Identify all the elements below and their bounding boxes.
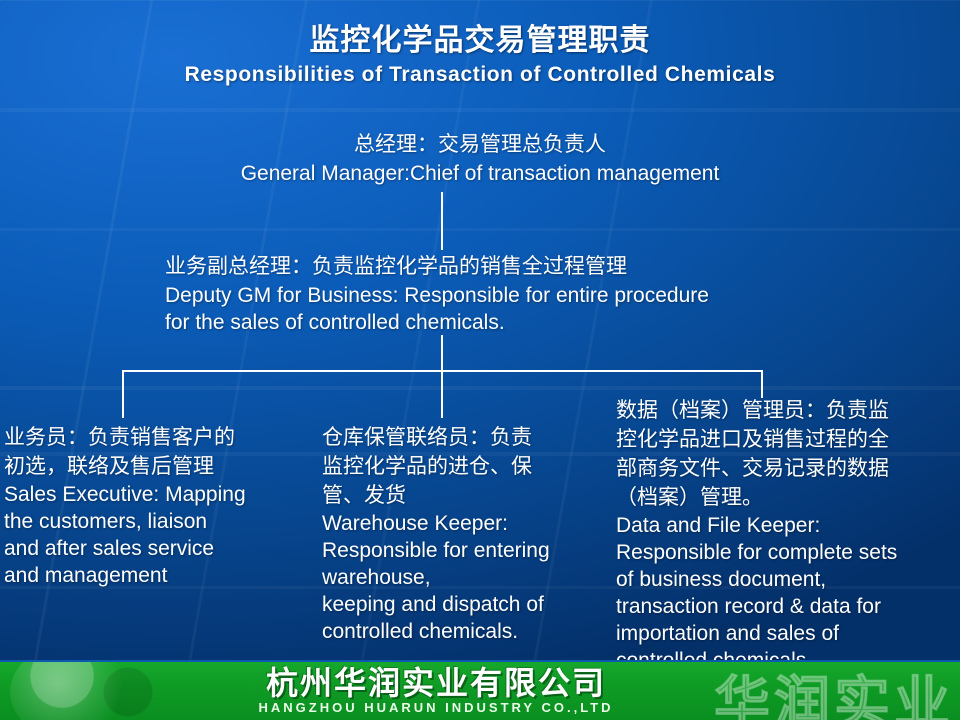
company-name-english: HANGZHOU HUARUN INDUSTRY CO.,LTD	[196, 700, 676, 716]
connector-deputy-stub	[441, 335, 443, 372]
slide-title: 监控化学品交易管理职责 Responsibilities of Transact…	[0, 22, 960, 90]
slide-canvas: 监控化学品交易管理职责 Responsibilities of Transact…	[0, 0, 960, 720]
node-label-chinese: 仓库保管联络员：负责 监控化学品的进仓、保 管、发货	[322, 423, 612, 510]
org-node-deputy-gm: 业务副总经理：负责监控化学品的销售全过程管理 Deputy GM for Bus…	[165, 252, 865, 336]
node-label-chinese: 总经理：交易管理总负责人	[0, 130, 960, 159]
org-node-sales-executive: 业务员：负责销售客户的 初选，联络及售后管理 Sales Executive: …	[4, 423, 304, 589]
connector-drop-data	[761, 370, 763, 398]
node-label-english: Sales Executive: Mapping the customers, …	[4, 481, 304, 589]
title-english: Responsibilities of Transaction of Contr…	[0, 60, 960, 90]
node-label-english: General Manager:Chief of transaction man…	[0, 159, 960, 188]
org-node-data-file-keeper: 数据（档案）管理员：负责监 控化学品进口及销售过程的全 部商务文件、交易记录的数…	[616, 396, 956, 674]
org-node-warehouse-keeper: 仓库保管联络员：负责 监控化学品的进仓、保 管、发货 Warehouse Kee…	[322, 423, 612, 645]
connector-drop-sales	[122, 370, 124, 418]
connector-gm-to-deputy	[441, 192, 443, 250]
company-name-chinese: 杭州华润实业有限公司	[196, 666, 676, 700]
node-label-english: Warehouse Keeper: Responsible for enteri…	[322, 510, 612, 645]
node-label-chinese: 业务副总经理：负责监控化学品的销售全过程管理	[165, 252, 865, 282]
title-chinese: 监控化学品交易管理职责	[0, 22, 960, 60]
watermark-text: 华润实业	[714, 660, 954, 720]
node-label-chinese: 业务员：负责销售客户的 初选，联络及售后管理	[4, 423, 304, 481]
footer-logo-bar: 华润实业 杭州华润实业有限公司 HANGZHOU HUARUN INDUSTRY…	[0, 660, 960, 720]
company-logo: 杭州华润实业有限公司 HANGZHOU HUARUN INDUSTRY CO.,…	[196, 666, 676, 716]
node-label-english: Data and File Keeper: Responsible for co…	[616, 512, 956, 674]
logo-swirl-decoration	[10, 660, 130, 720]
node-label-chinese: 数据（档案）管理员：负责监 控化学品进口及销售过程的全 部商务文件、交易记录的数…	[616, 396, 956, 512]
org-node-general-manager: 总经理：交易管理总负责人 General Manager:Chief of tr…	[0, 130, 960, 188]
node-label-english: Deputy GM for Business: Responsible for …	[165, 282, 865, 336]
connector-drop-warehouse	[441, 370, 443, 418]
